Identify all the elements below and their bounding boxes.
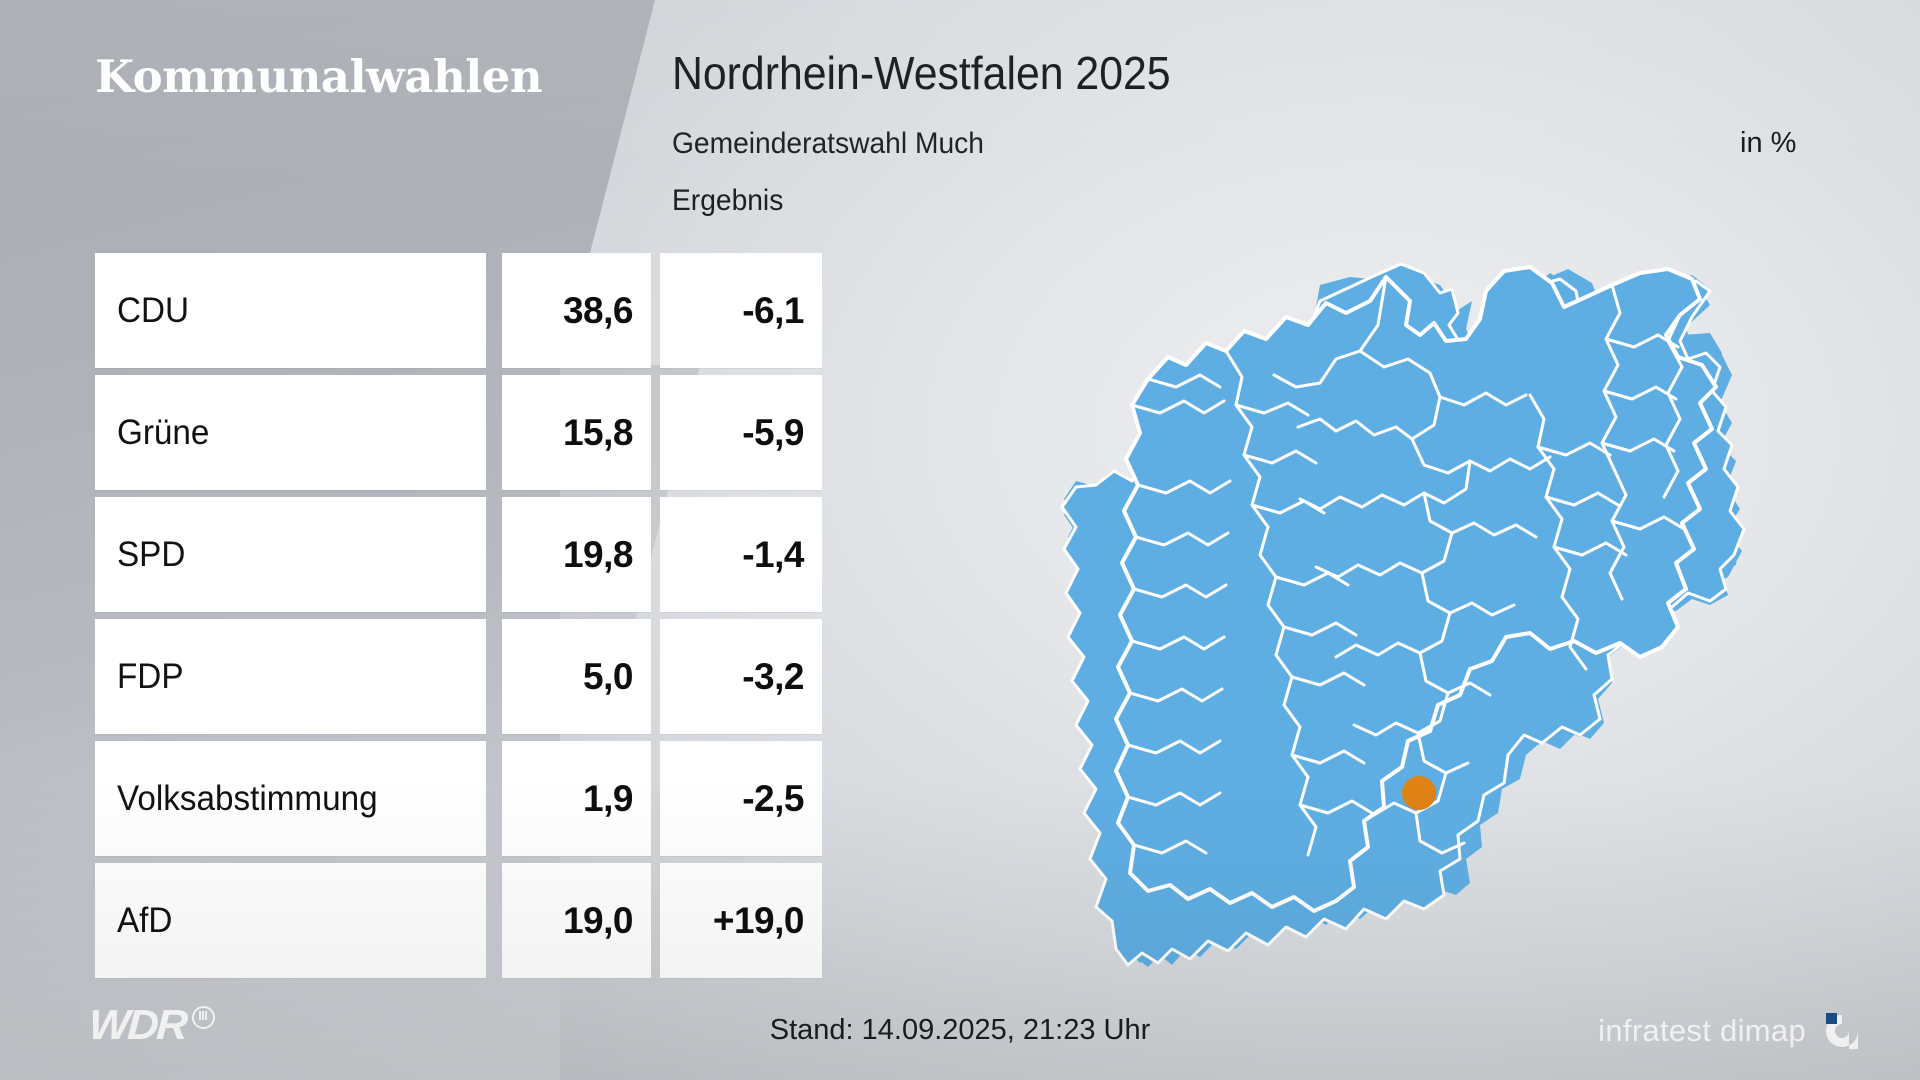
wdr-logo: WDR	[90, 1004, 215, 1046]
party-cell: AfD	[95, 863, 486, 978]
result-cell: 19,8	[502, 497, 651, 612]
table-row: SPD 19,8 -1,4	[95, 497, 822, 612]
party-cell: CDU	[95, 253, 486, 368]
change-value: -3,2	[742, 656, 804, 698]
nrw-map	[1020, 255, 1820, 985]
party-cell: Grüne	[95, 375, 486, 490]
idimap-glyph	[1820, 1009, 1864, 1053]
change-cell: -1,4	[660, 497, 822, 612]
location-marker	[1402, 776, 1436, 810]
party-name: SPD	[117, 535, 185, 575]
result-value: 1,9	[583, 778, 633, 820]
result-cell: 5,0	[502, 619, 651, 734]
party-name: CDU	[117, 291, 189, 331]
result-cell: 1,9	[502, 741, 651, 856]
infratest-dimap-logo: infratest dimap	[1598, 1009, 1864, 1053]
result-cell: 38,6	[502, 253, 651, 368]
result-value: 19,0	[563, 900, 633, 942]
nrw-map-svg	[1020, 255, 1820, 985]
infratest-dimap-icon	[1820, 1009, 1864, 1053]
change-value: -2,5	[742, 778, 804, 820]
wdr-wordmark: WDR	[88, 1004, 187, 1046]
nordrhein-westfalen-map	[1116, 267, 1716, 911]
party-cell: SPD	[95, 497, 486, 612]
result-value: 19,8	[563, 534, 633, 576]
party-cell: Volksabstimmung	[95, 741, 486, 856]
brand-title: Kommunalwahlen	[95, 50, 542, 103]
result-value: 38,6	[563, 290, 633, 332]
result-value: 5,0	[583, 656, 633, 698]
table-row: Grüne 15,8 -5,9	[95, 375, 822, 490]
party-cell: FDP	[95, 619, 486, 734]
change-cell: -5,9	[660, 375, 822, 490]
election-result-graphic: Kommunalwahlen Nordrhein-Westfalen 2025 …	[0, 0, 1920, 1080]
change-cell: -3,2	[660, 619, 822, 734]
party-name: Grüne	[117, 413, 209, 453]
result-label: Ergebnis	[672, 184, 783, 218]
timestamp: Stand: 14.09.2025, 21:23 Uhr	[770, 1014, 1151, 1047]
table-row: FDP 5,0 -3,2	[95, 619, 822, 734]
result-value: 15,8	[563, 412, 633, 454]
party-name: AfD	[117, 901, 172, 941]
change-value: +19,0	[713, 900, 804, 942]
table-row: AfD 19,0 +19,0	[95, 863, 822, 978]
table-row: CDU 38,6 -6,1	[95, 253, 822, 368]
result-cell: 19,0	[502, 863, 651, 978]
change-value: -5,9	[742, 412, 804, 454]
unit-label: in %	[1740, 127, 1796, 160]
party-name: Volksabstimmung	[117, 779, 378, 819]
results-table: CDU 38,6 -6,1 Grüne 15,8 -5,9 SPD	[95, 253, 822, 985]
change-value: -1,4	[742, 534, 804, 576]
change-cell: +19,0	[660, 863, 822, 978]
infratest-dimap-wordmark: infratest dimap	[1598, 1013, 1806, 1049]
election-type-label: Gemeinderatswahl Much	[672, 127, 984, 161]
change-value: -6,1	[742, 290, 804, 332]
party-name: FDP	[117, 657, 184, 697]
result-cell: 15,8	[502, 375, 651, 490]
page-title: Nordrhein-Westfalen 2025	[672, 46, 1171, 100]
change-cell: -6,1	[660, 253, 822, 368]
table-row: Volksabstimmung 1,9 -2,5	[95, 741, 822, 856]
ard-circle-one-icon	[192, 1006, 215, 1029]
change-cell: -2,5	[660, 741, 822, 856]
